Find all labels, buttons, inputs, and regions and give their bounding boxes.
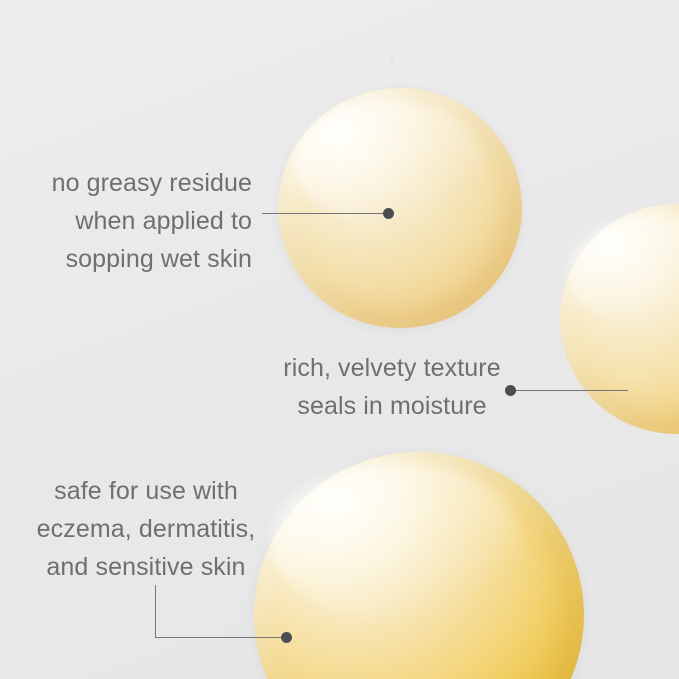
callout-text-safe-for-sensitive-skin: safe for use with eczema, dermatitis, an…: [36, 472, 256, 586]
leader-dot-safe-for-sensitive-skin: [281, 632, 292, 643]
leader-line-no-greasy-residue: [262, 213, 386, 214]
callout-text-rich-velvety-texture: rich, velvety texture seals in moisture: [271, 349, 513, 425]
leader-dot-rich-velvety-texture: [505, 385, 516, 396]
product-infographic: no greasy residue when applied to soppin…: [0, 0, 679, 679]
leader-line-safe-vertical: [155, 585, 156, 638]
callout-text-no-greasy-residue: no greasy residue when applied to soppin…: [30, 164, 252, 278]
leader-line-rich-velvety-texture: [514, 390, 628, 391]
oil-droplet-top: [278, 88, 522, 328]
leader-dot-no-greasy-residue: [383, 208, 394, 219]
leader-line-safe-horizontal: [155, 637, 285, 638]
oil-speck-icon: [390, 57, 394, 61]
